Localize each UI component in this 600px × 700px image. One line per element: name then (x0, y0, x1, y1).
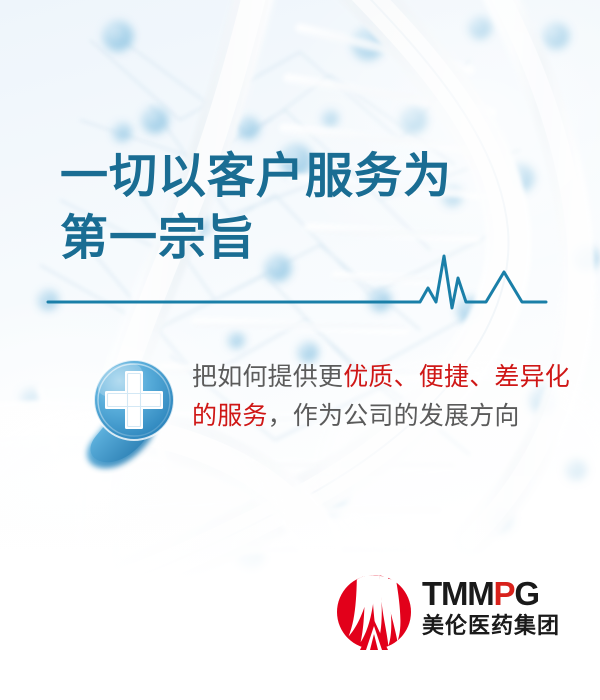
medical-cross-badge (72, 352, 192, 474)
body-segment-plain-2: ，作为公司的发展方向 (268, 402, 520, 430)
logo-latin-name: TMMPG (422, 576, 552, 612)
logo-chinese-name: 美伦医药集团 (422, 612, 552, 640)
logo-wordmark: TMMPG 美伦医药集团 (422, 576, 552, 640)
logo-latin-accent: P (494, 575, 515, 612)
tmmpg-emblem-icon (336, 574, 412, 650)
poster-canvas: 一切以客户服务为 第一宗旨 (0, 0, 600, 700)
body-segment-plain-1: 把如何提供更 (192, 363, 343, 391)
company-logo: TMMPG 美伦医药集团 (336, 574, 550, 650)
logo-latin-part-1: TMM (422, 575, 494, 612)
body-paragraph: 把如何提供更优质、便捷、差异化的服务，作为公司的发展方向 (192, 358, 572, 436)
logo-latin-part-2: G (514, 575, 538, 612)
ecg-divider (0, 248, 600, 310)
